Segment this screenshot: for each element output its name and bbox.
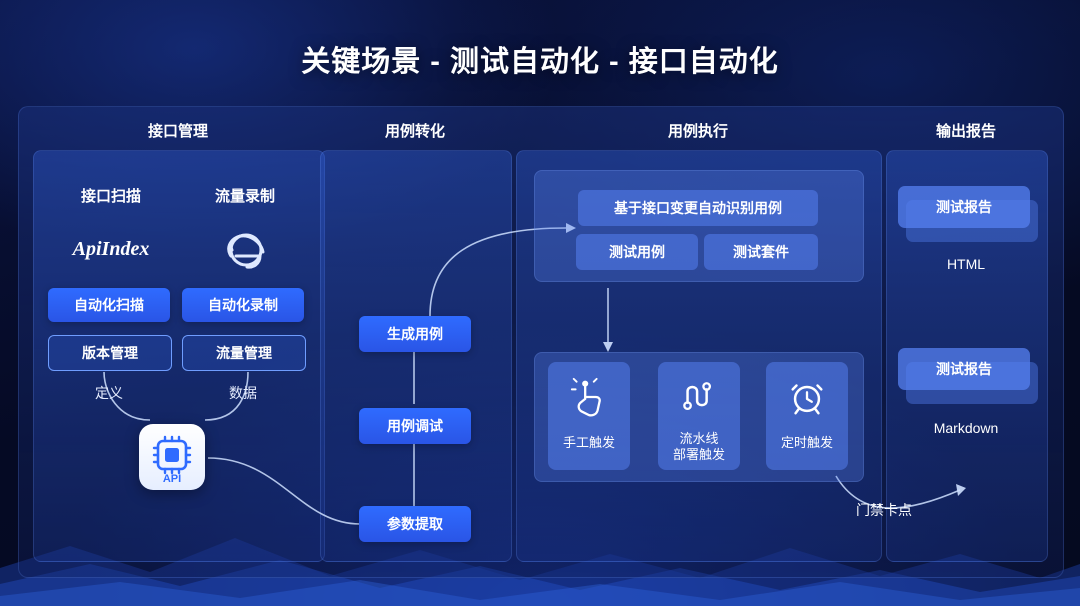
apiindex-logo: ApiIndex [56,238,166,261]
generate-case-button[interactable]: 生成用例 [359,316,471,352]
report-markdown-stack: 测试报告 [896,348,1046,418]
internet-explorer-icon [222,226,270,274]
column-heading-case-conversion: 用例转化 [320,120,510,141]
data-label: 数据 [182,383,304,403]
scheduled-trigger[interactable]: 定时触发 [766,362,848,470]
auto-record-button[interactable]: 自动化录制 [182,288,304,322]
auto-identify-case-button[interactable]: 基于接口变更自动识别用例 [578,190,818,226]
report-html-card[interactable]: 测试报告 [898,186,1030,228]
column-heading-case-execution: 用例执行 [516,120,880,141]
html-format-label: HTML [886,256,1046,272]
report-markdown-card[interactable]: 测试报告 [898,348,1030,390]
alarm-clock-icon [786,376,828,423]
api-scan-title: 接口扫描 [56,185,166,206]
define-label: 定义 [48,383,170,403]
pipeline-icon [678,376,720,423]
markdown-format-label: Markdown [886,420,1046,436]
pipeline-trigger[interactable]: 流水线 部署触发 [658,362,740,470]
manual-trigger[interactable]: 手工触发 [548,362,630,470]
gate-checkpoint-label: 门禁卡点 [856,500,912,520]
manual-trigger-label: 手工触发 [563,435,615,451]
traffic-manage-button[interactable]: 流量管理 [182,335,306,371]
column-heading-api-management: 接口管理 [33,120,323,141]
column-heading-output-report: 输出报告 [886,120,1046,141]
test-case-button[interactable]: 测试用例 [576,234,698,270]
auto-scan-button[interactable]: 自动化扫描 [48,288,170,322]
svg-text:API: API [163,473,181,485]
extract-param-button[interactable]: 参数提取 [359,506,471,542]
page-title: 关键场景 - 测试自动化 - 接口自动化 [0,38,1080,80]
scheduled-trigger-label: 定时触发 [781,435,833,451]
report-html-stack: 测试报告 [896,186,1046,256]
hand-tap-icon [568,376,610,423]
api-chip-icon: API [139,424,205,490]
version-manage-button[interactable]: 版本管理 [48,335,172,371]
test-suite-button[interactable]: 测试套件 [704,234,818,270]
column-case-conversion [320,150,512,562]
debug-case-button[interactable]: 用例调试 [359,408,471,444]
traffic-record-title: 流量录制 [190,185,300,206]
pipeline-trigger-label: 流水线 部署触发 [673,431,725,463]
